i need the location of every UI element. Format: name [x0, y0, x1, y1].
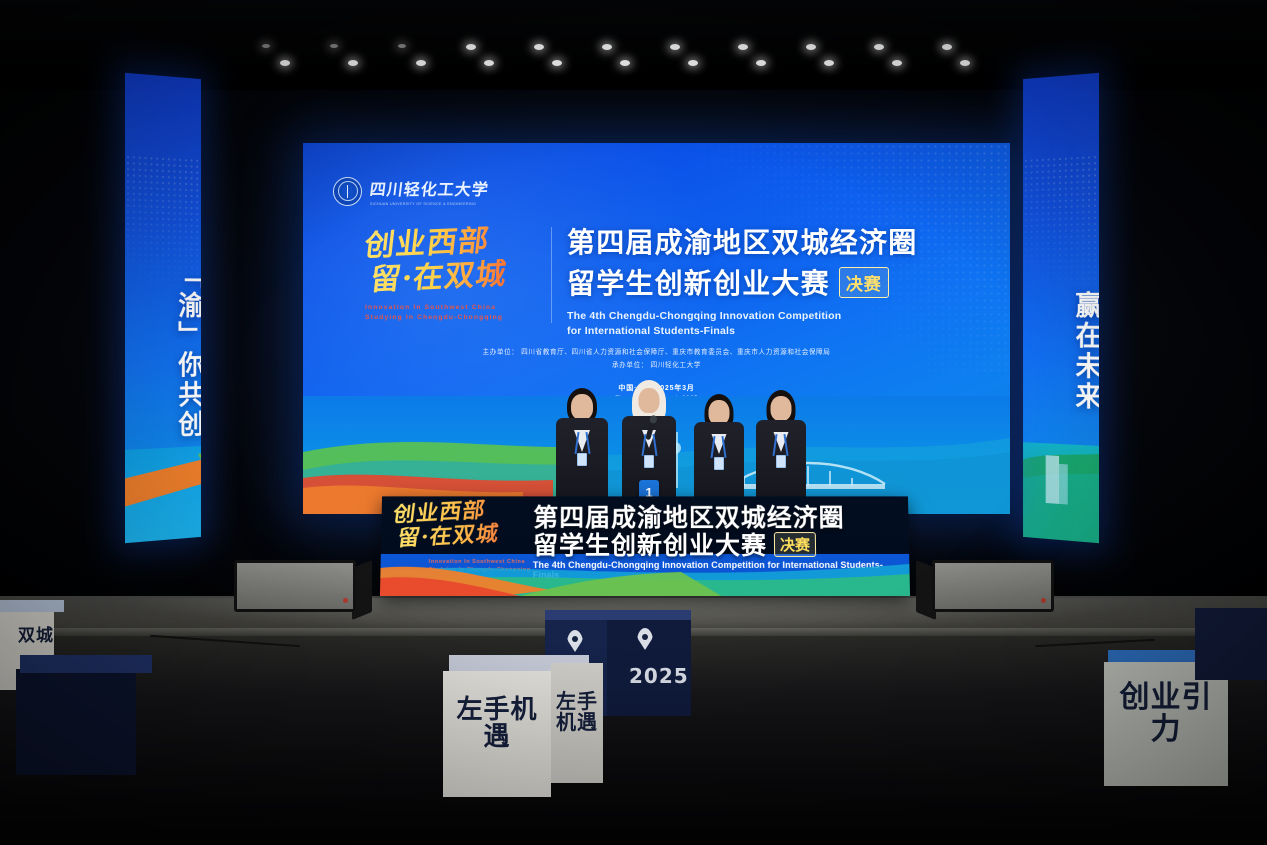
- university-name-en: SICHUAN UNIVERSITY OF SCIENCE & ENGINEER…: [370, 202, 489, 206]
- stage-light: [262, 44, 270, 48]
- led-pillar-left: 「渝」你共创: [125, 73, 201, 543]
- led-pillar-right: 赢在未来: [1023, 73, 1099, 543]
- cube-face-top: [20, 655, 152, 673]
- pillar-right-slogan: 赢在未来: [1023, 225, 1099, 478]
- badge-card: [577, 453, 587, 466]
- face: [571, 394, 593, 420]
- calligraphy-line1: 创业西部: [363, 223, 540, 263]
- stage-light: [534, 44, 544, 50]
- speaker-grill: [932, 560, 1054, 612]
- title-line1: 第四届成渝地区双城经济圈: [567, 227, 965, 258]
- stage-light: [960, 60, 970, 66]
- undertaker-organizer: 承办单位： 四川轻化工大学: [303, 359, 1010, 372]
- stage-light: [602, 44, 612, 50]
- stage-light: [484, 60, 494, 66]
- cube-left-dark: [16, 655, 166, 775]
- pillar-right-skyline-icon: [1023, 442, 1099, 543]
- calligraphy-line2: 留·在双城: [369, 257, 540, 296]
- cube-side-label: 左手机遇: [553, 691, 601, 733]
- badge-card: [644, 455, 654, 468]
- host-organizers: 主办单位： 四川省教育厅、四川省人力资源和社会保障厅、重庆市教育委员会、重庆市人…: [303, 346, 1010, 359]
- stage-light: [280, 60, 290, 66]
- face: [639, 388, 660, 413]
- cube-right-rear: [1195, 608, 1267, 680]
- stage-light: [670, 44, 680, 50]
- stage-light: [806, 44, 816, 50]
- lighting-truss: [250, 34, 1030, 80]
- organizers-block: 主办单位： 四川省教育厅、四川省人力资源和社会保障厅、重庆市教育委员会、重庆市人…: [303, 346, 1010, 371]
- cube-front-label: 左手机遇: [449, 697, 545, 752]
- stage-light: [756, 60, 766, 66]
- stage-light: [398, 44, 406, 48]
- face: [771, 396, 792, 421]
- stage-monitor-right: [932, 560, 1054, 612]
- cube-right-label: 创业引力: [1108, 682, 1224, 745]
- stage-light: [416, 60, 426, 66]
- stage-photo: 「渝」你共创 赢在未来 四川轻化工大学 SIC: [0, 0, 1267, 845]
- badge-card: [714, 457, 724, 470]
- title-english-line1: The 4th Chengdu-Chongqing Innovation Com…: [567, 309, 965, 324]
- calligraphy-english-line1: Innovation In Southwest China: [365, 303, 537, 313]
- cube-face-front: [1195, 608, 1267, 680]
- title-english-line2: for International Students-Finals: [567, 324, 965, 339]
- university-seal-icon: [333, 177, 362, 206]
- cube-face-front: [16, 669, 136, 775]
- finals-badge: 决赛: [839, 267, 889, 298]
- calligraphy-logo: 创业西部 留·在双城 Innovation In Southwest China…: [365, 227, 552, 323]
- stage-light: [466, 44, 476, 50]
- speaker-grill: [234, 560, 356, 612]
- speaker-logo: [1041, 598, 1046, 603]
- podium-finals-badge: 决赛: [774, 532, 816, 557]
- pillar-right-footer-graphic: [1023, 442, 1099, 543]
- pillar-left-ribbon-icon: [125, 445, 201, 543]
- badge-card: [776, 455, 786, 468]
- cube-face-top: [545, 610, 691, 620]
- university-name-zh: 四川轻化工大学: [369, 176, 491, 200]
- title-block: 第四届成渝地区双城经济圈 留学生创新创业大赛 决赛 The 4th Chengd…: [552, 227, 965, 339]
- pillar-left-slogan: 「渝」你共创: [125, 225, 201, 478]
- stage-light: [942, 44, 952, 50]
- cube-center-white: 左手机遇 左手机遇: [443, 655, 611, 795]
- stage-light: [330, 44, 338, 48]
- podium-calligraphy-line2: 留·在双城: [396, 521, 535, 551]
- podium-banner: 创业西部 留·在双城 第四届成渝地区双城经济圈 留学生创新创业大赛 决赛 Inn…: [380, 496, 910, 596]
- podium-calligraphy: 创业西部 留·在双城: [393, 500, 533, 546]
- screen-headline-block: 创业西部 留·在双城 Innovation In Southwest China…: [365, 227, 965, 339]
- stage-light: [874, 44, 884, 50]
- stage-light: [620, 60, 630, 66]
- podium-wave-graphic: [380, 556, 910, 596]
- stage-light: [824, 60, 834, 66]
- pillar-left-footer-graphic: [125, 445, 201, 543]
- calligraphy-english-line2: Studying In Chengdu-Chongqing: [365, 313, 537, 323]
- stage-light: [892, 60, 902, 66]
- stage-light: [552, 60, 562, 66]
- stage-light: [348, 60, 358, 66]
- stage-light: [738, 44, 748, 50]
- cube-year-label: 2025: [629, 664, 689, 688]
- stage-monitor-left: [234, 560, 356, 612]
- title-line2: 留学生创新创业大赛: [567, 262, 830, 302]
- cube-face-top: [0, 600, 64, 612]
- university-logo: 四川轻化工大学 SICHUAN UNIVERSITY OF SCIENCE & …: [333, 176, 489, 206]
- stage-light: [688, 60, 698, 66]
- speaker-logo: [343, 598, 348, 603]
- cube-left-far-label: 双城: [0, 628, 78, 646]
